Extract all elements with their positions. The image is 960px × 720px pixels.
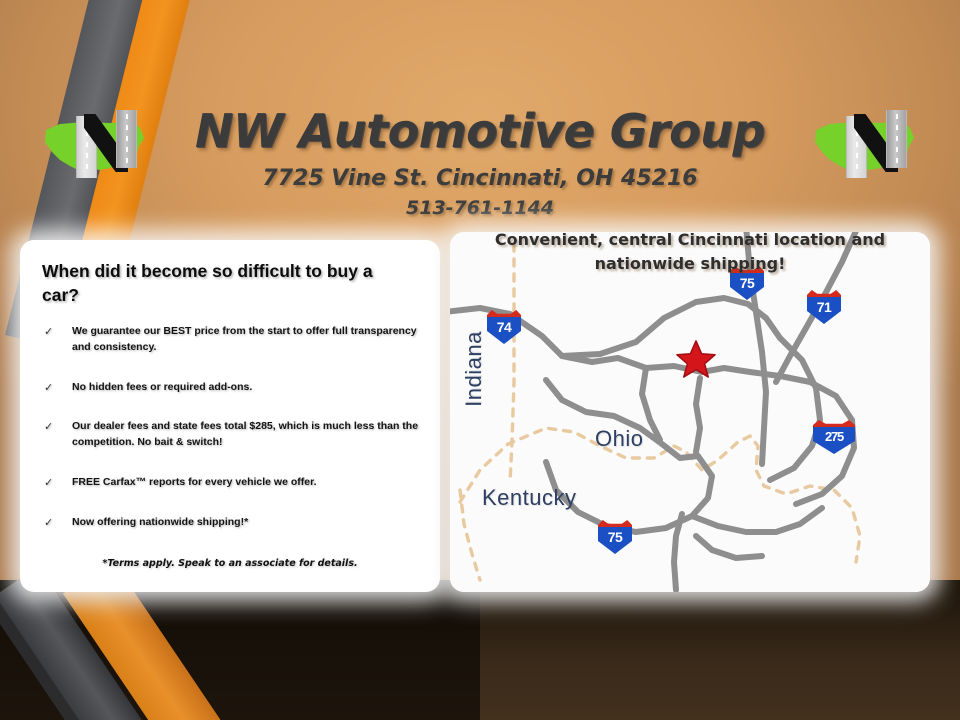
benefits-list: ✓ We guarantee our BEST price from the s…	[40, 324, 430, 554]
state-label-kentucky: Kentucky	[482, 485, 577, 511]
map-canvas: Indiana Ohio Kentucky 74 75 71	[450, 232, 930, 592]
check-icon: ✓	[44, 419, 53, 436]
interstate-shield-275-icon: 275	[812, 420, 856, 454]
list-item: ✓ FREE Carfax™ reports for every vehicle…	[40, 475, 430, 491]
value-proposition-panel: When did it become so difficult to buy a…	[20, 240, 440, 592]
list-item: ✓ Our dealer fees and state fees total $…	[40, 419, 430, 451]
brand-title: NW Automotive Group	[0, 104, 960, 158]
shield-number: 74	[486, 319, 522, 335]
interstate-shield-71-icon: 71	[806, 290, 842, 324]
map-headline: Convenient, central Cincinnati location …	[450, 228, 930, 276]
list-item-label: Now offering nationwide shipping!*	[72, 516, 248, 528]
background-dark-band-right	[480, 580, 960, 720]
list-item-label: We guarantee our BEST price from the sta…	[72, 325, 417, 353]
terms-disclaimer: *Terms apply. Speak to an associate for …	[20, 558, 440, 569]
list-item: ✓ Now offering nationwide shipping!*	[40, 515, 430, 531]
check-icon: ✓	[44, 475, 53, 492]
check-icon: ✓	[44, 380, 53, 397]
shield-number: 71	[806, 299, 842, 315]
list-item-label: No hidden fees or required add-ons.	[72, 381, 252, 393]
check-icon: ✓	[44, 324, 53, 341]
shield-number: 75	[729, 275, 765, 291]
list-item-label: Our dealer fees and state fees total $28…	[72, 420, 418, 448]
list-item: ✓ No hidden fees or required add-ons.	[40, 380, 430, 396]
interstate-shield-75-south-icon: 75	[597, 520, 633, 554]
check-icon: ✓	[44, 515, 53, 532]
map-graphic	[450, 232, 930, 592]
slide-canvas: NW Automotive Group 7725 Vine St. Cincin…	[0, 0, 960, 720]
page-title: When did it become so difficult to buy a…	[42, 260, 414, 307]
brand-phone: 513-761-1144	[0, 197, 960, 219]
brand-address: 7725 Vine St. Cincinnati, OH 45216	[0, 166, 960, 191]
shield-number: 75	[597, 529, 633, 545]
list-item: ✓ We guarantee our BEST price from the s…	[40, 324, 430, 356]
interstate-shield-74-icon: 74	[486, 310, 522, 344]
state-label-indiana: Indiana	[461, 331, 487, 407]
state-label-ohio: Ohio	[595, 426, 643, 452]
location-map-panel: Indiana Ohio Kentucky 74 75 71	[450, 232, 930, 592]
list-item-label: FREE Carfax™ reports for every vehicle w…	[72, 476, 317, 488]
shield-number: 275	[812, 429, 856, 444]
